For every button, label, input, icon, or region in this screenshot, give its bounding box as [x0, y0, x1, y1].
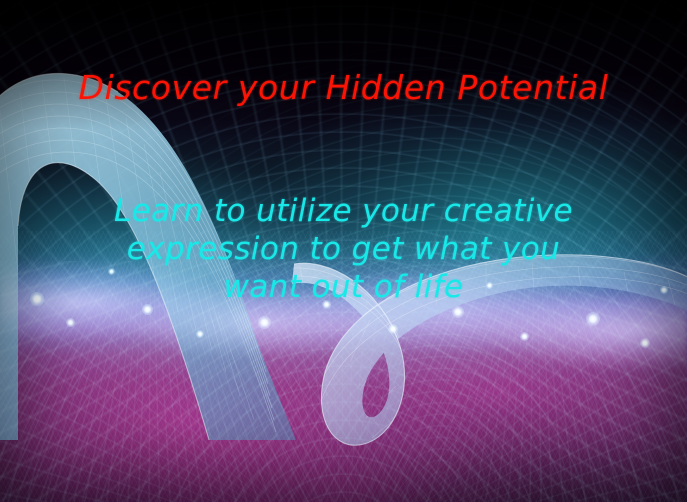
- subheading-line-1: Learn to utilize your creative: [0, 192, 687, 230]
- headline-text: Discover your Hidden Potential: [0, 68, 687, 108]
- subheading-line-3: want out of life: [0, 268, 687, 306]
- subheading-line-2: expression to get what you: [0, 230, 687, 268]
- subheading-text: Learn to utilize your creative expressio…: [0, 192, 687, 306]
- promotional-banner: Discover your Hidden Potential Learn to …: [0, 0, 687, 502]
- text-layer: Discover your Hidden Potential Learn to …: [0, 0, 687, 502]
